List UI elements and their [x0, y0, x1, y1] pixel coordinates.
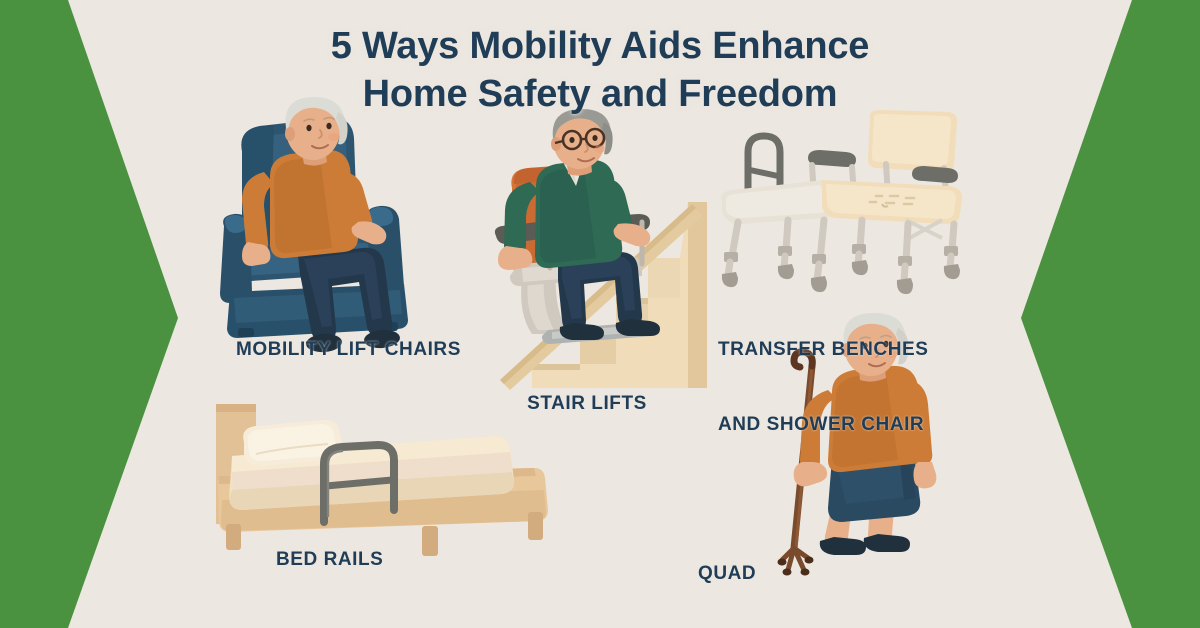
- caption-bed-rails: BED RAILS: [276, 547, 406, 572]
- infographic-canvas: 5 Ways Mobility Aids Enhance Home Safety…: [0, 0, 1200, 628]
- caption-stair-lifts: STAIR LIFTS: [522, 391, 652, 416]
- illustration-transfer-bench: [716, 110, 971, 300]
- caption-transfer-line-1: TRANSFER BENCHES: [718, 337, 938, 362]
- illustration-mobility-lift-chair: [212, 96, 462, 346]
- caption-transfer-benches: TRANSFER BENCHES AND SHOWER CHAIR: [718, 287, 938, 487]
- illustration-bed-rails: [196, 404, 581, 559]
- illustration-stair-lift: [492, 118, 707, 388]
- caption-transfer-line-2: AND SHOWER CHAIR: [718, 412, 938, 437]
- caption-mobility-lift-chairs: MOBILITY LIFT CHAIRS: [236, 337, 456, 362]
- caption-cane-line-1: QUAD: [698, 561, 798, 586]
- caption-quad-canes: QUAD CANES: [698, 511, 798, 628]
